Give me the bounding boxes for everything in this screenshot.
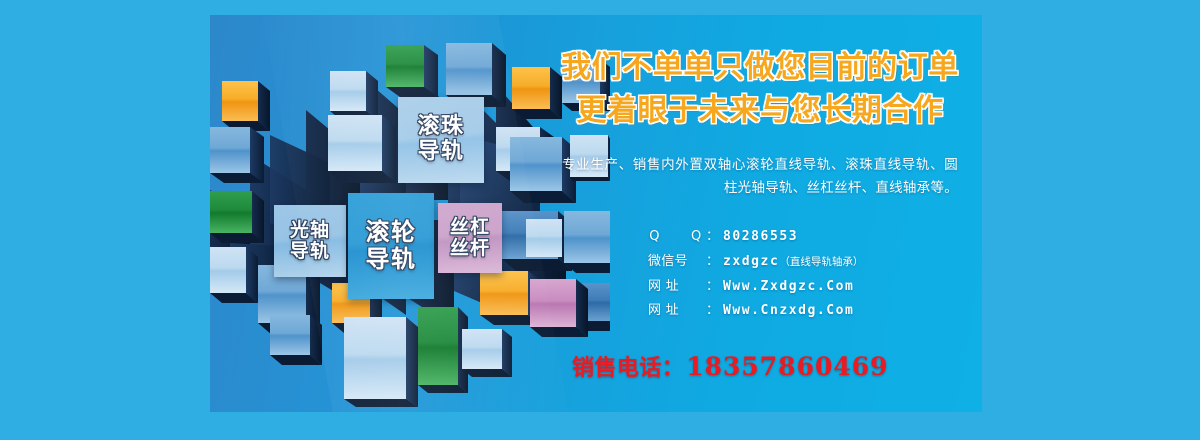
copy-column: 我们不单单只做您目前的订单 更着眼于未来与您长期合作 专业生产、销售内外置双轴心…	[550, 35, 970, 395]
sales-phone-number: 18357860469	[686, 352, 888, 381]
headline-line-2: 更着眼于未来与您长期合作	[550, 90, 970, 133]
contact-label-wechat: 微信号	[648, 250, 706, 275]
sales-phone[interactable]: 销售电话：18357860469	[572, 350, 970, 382]
product-cube-sigang-sigan[interactable]: 丝杠丝杆	[438, 203, 502, 273]
product-cube-label: 滚珠导轨	[418, 115, 465, 164]
contact-value-wechat[interactable]: zxdgzc	[723, 250, 779, 275]
product-cube-label: 丝杠丝杆	[450, 217, 490, 260]
contact-block: Q Q ： 80286553 微信号 ： zxdgzc （直线导轨轴承） 网 址…	[648, 225, 970, 325]
product-cube-label: 滚轮导轨	[366, 219, 417, 273]
contact-value-website-2[interactable]: Www.Cnzxdg.Com	[723, 299, 854, 324]
headline-line-1: 我们不单单只做您目前的订单	[561, 50, 959, 85]
product-cube-gunzhu-daogui[interactable]: 滚珠导轨	[398, 97, 484, 183]
contact-label-website-1: 网 址	[648, 275, 706, 300]
sales-phone-label: 销售电话：	[572, 356, 684, 381]
contact-value-qq[interactable]: 80286553	[723, 225, 798, 250]
contact-value-website-1[interactable]: Www.Zxdgzc.Com	[723, 275, 854, 300]
contact-label-website-2: 网 址	[648, 299, 706, 324]
contact-row-qq: Q Q ： 80286553	[648, 225, 970, 250]
headline: 我们不单单只做您目前的订单 更着眼于未来与您长期合作	[550, 47, 970, 132]
contact-note-wechat: （直线导轨轴承）	[779, 252, 863, 272]
banner-stage: 滚珠导轨 光轴导轨 滚轮导轨 丝杠丝杆 我们不单单只做您目前的订单 更着眼于未来…	[0, 0, 1200, 440]
product-cube-gunlun-daogui[interactable]: 滚轮导轨	[348, 193, 434, 299]
contact-row-website-2: 网 址 ： Www.Cnzxdg.Com	[648, 299, 970, 324]
contact-row-website-1: 网 址 ： Www.Zxdgzc.Com	[648, 275, 970, 300]
product-cube-guangzhou-daogui[interactable]: 光轴导轨	[274, 205, 346, 277]
contact-separator: ：	[706, 299, 719, 324]
product-cube-label: 光轴导轨	[290, 220, 330, 263]
banner-panel: 滚珠导轨 光轴导轨 滚轮导轨 丝杠丝杆 我们不单单只做您目前的订单 更着眼于未来…	[210, 15, 982, 412]
description-text: 专业生产、销售内外置双轴心滚轮直线导轨、滚珠直线导轨、圆柱光轴导轨、丝杠丝杆、直…	[562, 154, 958, 200]
contact-separator: ：	[706, 250, 719, 275]
contact-row-wechat: 微信号 ： zxdgzc （直线导轨轴承）	[648, 250, 970, 275]
contact-separator: ：	[706, 225, 719, 250]
contact-separator: ：	[706, 275, 719, 300]
contact-label-qq: Q Q	[648, 225, 706, 250]
